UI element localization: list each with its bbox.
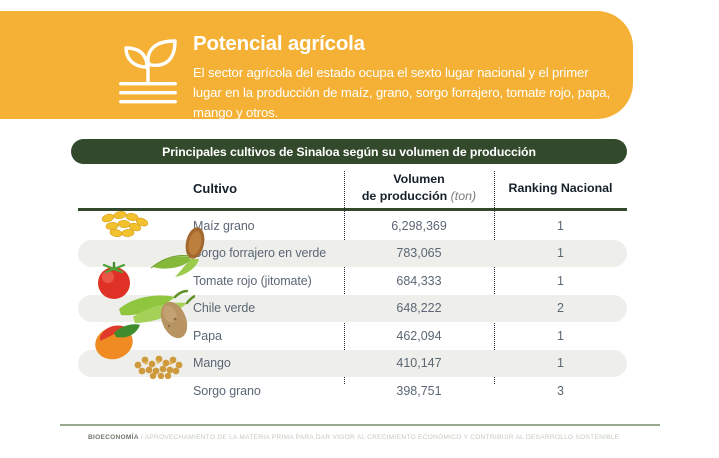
column-header-volume-line1: Volumen: [393, 172, 444, 186]
cell-volume: 783,065: [344, 240, 494, 268]
slide-root: Potencial agrícola El sector agrícola de…: [0, 0, 719, 458]
cell-ranking: 1: [494, 212, 627, 240]
column-header-crop: Cultivo: [193, 181, 237, 196]
column-header-ranking: Ranking Nacional: [494, 181, 627, 195]
column-header-volume-unit: (ton): [451, 189, 476, 203]
banner-text-block: Potencial agrícola El sector agrícola de…: [193, 33, 613, 123]
table-row: Papa462,0941: [78, 322, 627, 350]
table-row: Sorgo grano398,7513: [78, 377, 627, 405]
cell-volume: 462,094: [344, 322, 494, 350]
footer-bold-label: BIOECONOMÍA: [88, 434, 139, 441]
cell-ranking: 1: [494, 267, 627, 295]
cell-crop: Sorgo grano: [193, 377, 261, 405]
cell-volume: 6,298,369: [344, 212, 494, 240]
cell-crop: Papa: [193, 322, 222, 350]
header-divider-rule: [78, 208, 627, 211]
cell-crop: Chile verde: [193, 295, 255, 323]
cell-ranking: 3: [494, 377, 627, 405]
cell-ranking: 2: [494, 295, 627, 323]
cell-ranking: 1: [494, 350, 627, 378]
cell-volume: 648,222: [344, 295, 494, 323]
sprout-icon: [111, 38, 185, 108]
banner-description: El sector agrícola del estado ocupa el s…: [193, 63, 613, 123]
table-row: Chile verde648,2222: [78, 295, 627, 323]
table-row: Tomate rojo (jitomate)684,3331: [78, 267, 627, 295]
cell-crop: Sorgo forrajero en verde: [193, 240, 326, 268]
footer-description: APROVECHAMIENTO DE LA MATERIA PRIMA PARA…: [145, 434, 620, 441]
table-row: Mango410,1471: [78, 350, 627, 378]
footer-divider: [60, 424, 660, 426]
table-rows: Maíz grano6,298,3691Sorgo forrajero en v…: [0, 212, 719, 405]
table-column-headers: Cultivo Volumen de producción (ton) Rank…: [78, 169, 627, 209]
table-row: Maíz grano6,298,3691: [78, 212, 627, 240]
cell-crop: Mango: [193, 350, 231, 378]
cell-volume: 684,333: [344, 267, 494, 295]
cell-volume: 398,751: [344, 377, 494, 405]
cell-crop: Maíz grano: [193, 212, 255, 240]
agricultural-potential-banner: Potencial agrícola El sector agrícola de…: [0, 11, 633, 119]
footer-caption: BIOECONOMÍA / APROVECHAMIENTO DE LA MATE…: [88, 434, 619, 441]
cell-crop: Tomate rojo (jitomate): [193, 267, 312, 295]
cell-ranking: 1: [494, 322, 627, 350]
column-header-volume: Volumen de producción (ton): [344, 171, 494, 204]
table-row: Sorgo forrajero en verde783,0651: [78, 240, 627, 268]
cell-volume: 410,147: [344, 350, 494, 378]
cell-ranking: 1: [494, 240, 627, 268]
banner-title: Potencial agrícola: [193, 33, 613, 56]
table-title-pill: Principales cultivos de Sinaloa según su…: [71, 139, 627, 164]
column-header-volume-line2: de producción: [362, 189, 447, 203]
